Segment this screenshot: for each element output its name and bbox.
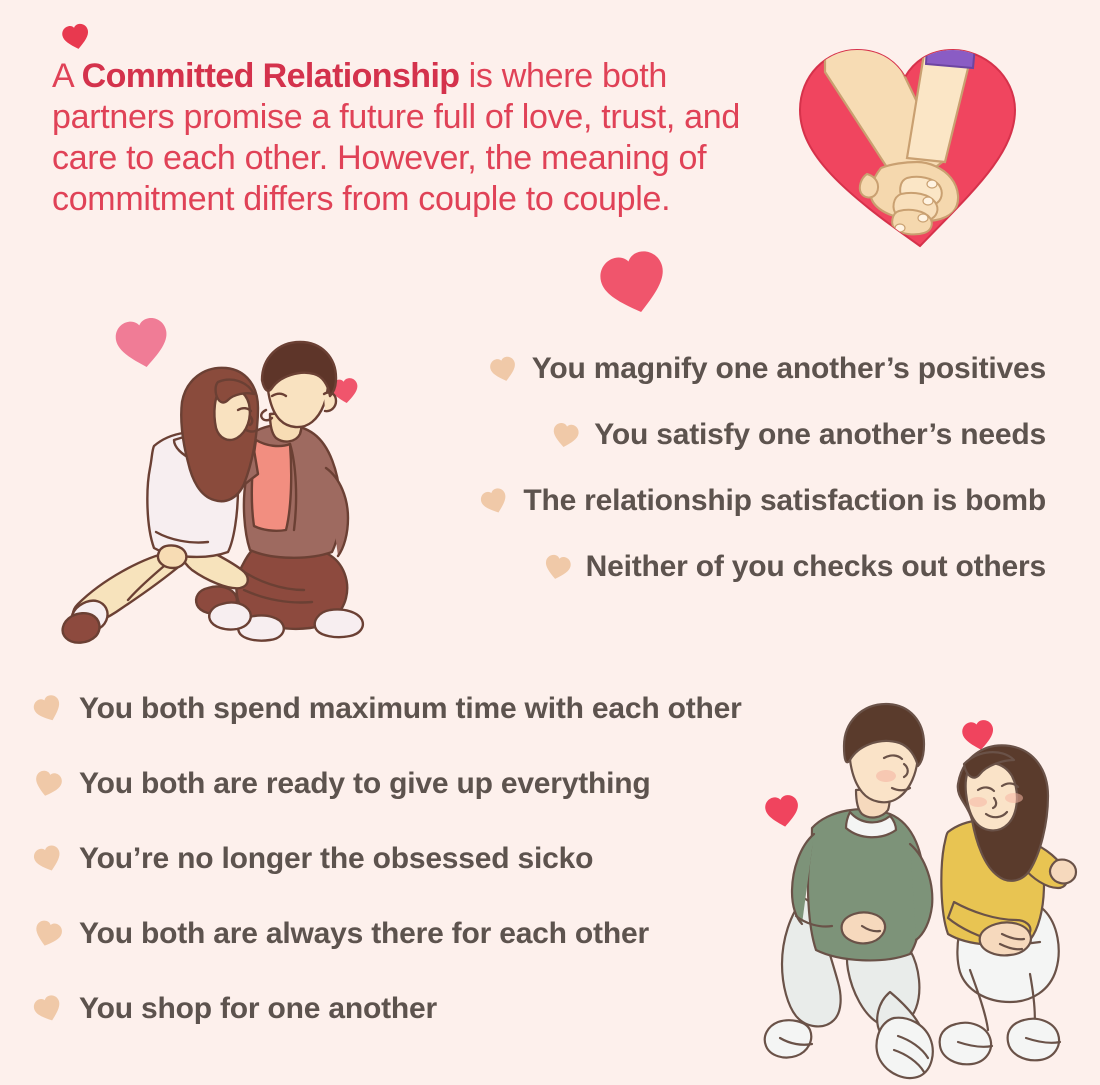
list-item[interactable]: Neither of you checks out others — [544, 550, 1046, 584]
list-item-label: You both are always there for each other — [79, 917, 649, 951]
list-item-label: You magnify one another’s positives — [532, 352, 1046, 386]
cuddling-couple-illustration — [758, 702, 1100, 1085]
holding-hands-heart-illustration — [795, 42, 1045, 252]
heart-top-left-icon — [60, 21, 93, 52]
heart-bullet-icon — [31, 918, 65, 951]
intro-paragraph: A Committed Relationship is where both p… — [52, 56, 797, 220]
heart-bullet-icon — [30, 692, 66, 727]
heart-bullet-icon — [478, 485, 512, 518]
list-item-label: Neither of you checks out others — [586, 550, 1046, 584]
intro-lead: A — [52, 57, 82, 95]
list-item-label: You satisfy one another’s needs — [594, 418, 1046, 452]
list-item[interactable]: You’re no longer the obsessed sicko — [34, 842, 742, 876]
list-item[interactable]: You both are ready to give up everything — [34, 767, 742, 801]
list-item[interactable]: You magnify one another’s positives — [490, 352, 1046, 386]
list-item-label: The relationship satisfaction is bomb — [523, 484, 1046, 518]
benefits-list-right: You magnify one another’s positives You … — [406, 352, 1046, 584]
list-item[interactable]: You both spend maximum time with each ot… — [34, 692, 742, 726]
kissing-couple-illustration — [58, 336, 398, 666]
infographic-page: A Committed Relationship is where both p… — [0, 0, 1100, 1085]
list-item-label: You both are ready to give up everything — [79, 767, 651, 801]
heart-bullet-icon — [550, 420, 581, 449]
heart-bullet-icon — [31, 768, 64, 800]
list-item[interactable]: You satisfy one another’s needs — [552, 418, 1046, 452]
list-item-label: You shop for one another — [79, 992, 437, 1026]
heart-center-top-icon — [593, 245, 674, 323]
list-item[interactable]: You both are always there for each other — [34, 917, 742, 951]
list-item-label: You’re no longer the obsessed sicko — [79, 842, 593, 876]
heart-bullet-icon — [30, 992, 65, 1026]
heart-bullet-icon — [487, 354, 519, 385]
heart-bullet-icon — [31, 842, 66, 875]
list-item[interactable]: You shop for one another — [34, 992, 742, 1026]
list-item-label: You both spend maximum time with each ot… — [79, 692, 742, 726]
intro-emphasis: Committed Relationship — [82, 57, 460, 95]
list-item[interactable]: The relationship satisfaction is bomb — [481, 484, 1046, 518]
heart-bullet-icon — [541, 552, 573, 582]
benefits-list-bottom: You both spend maximum time with each ot… — [34, 692, 742, 1026]
